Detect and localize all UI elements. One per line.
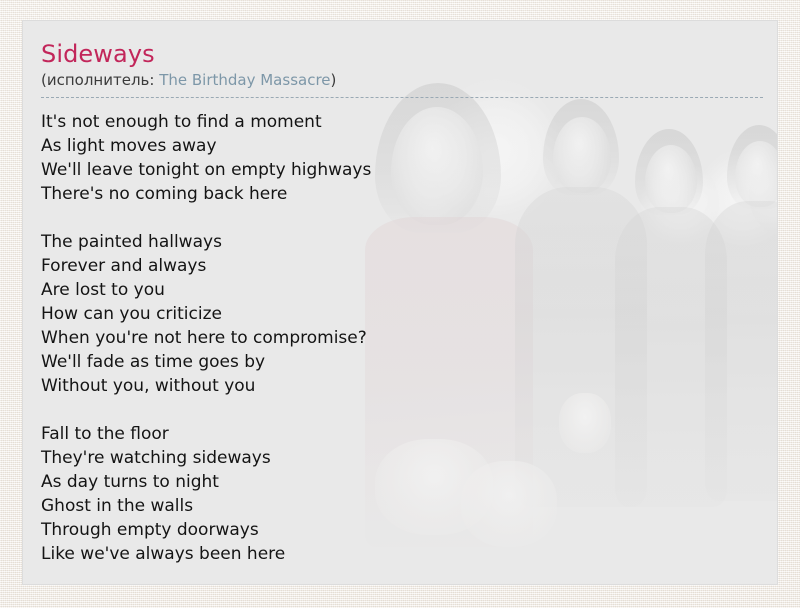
lyric-line: As day turns to night xyxy=(41,470,763,494)
lyric-line: Like we've always been here xyxy=(41,542,763,566)
lyric-line: How can you criticize xyxy=(41,302,763,326)
artist-suffix-label: ) xyxy=(331,71,337,89)
lyric-line: It's not enough to find a moment xyxy=(41,110,763,134)
lyric-line: We'll fade as time goes by xyxy=(41,350,763,374)
lyric-stanza: The painted hallways Forever and always … xyxy=(41,230,763,398)
song-header: Sideways (исполнитель: The Birthday Mass… xyxy=(41,39,763,98)
lyric-line: When you're not here to compromise? xyxy=(41,326,763,350)
artist-prefix-label: (исполнитель: xyxy=(41,71,159,89)
lyric-line: There's no coming back here xyxy=(41,182,763,206)
lyric-stanza: It's not enough to find a moment As ligh… xyxy=(41,110,763,206)
lyric-line: Forever and always xyxy=(41,254,763,278)
lyric-line: Fall to the floor xyxy=(41,422,763,446)
lyric-line: The painted hallways xyxy=(41,230,763,254)
lyric-line: As light moves away xyxy=(41,134,763,158)
lyrics-body: It's not enough to find a moment As ligh… xyxy=(41,110,763,566)
lyric-line: Ghost in the walls xyxy=(41,494,763,518)
artist-link[interactable]: The Birthday Massacre xyxy=(159,71,330,89)
lyric-line: They're watching sideways xyxy=(41,446,763,470)
lyric-line: Are lost to you xyxy=(41,278,763,302)
lyric-line: We'll leave tonight on empty highways xyxy=(41,158,763,182)
lyric-line: Without you, without you xyxy=(41,374,763,398)
lyric-stanza: Fall to the floor They're watching sidew… xyxy=(41,422,763,566)
artist-line: (исполнитель: The Birthday Massacre) xyxy=(41,70,763,90)
page-title: Sideways xyxy=(41,39,763,69)
lyrics-page-panel: Sideways (исполнитель: The Birthday Mass… xyxy=(22,20,778,585)
lyric-line: Through empty doorways xyxy=(41,518,763,542)
